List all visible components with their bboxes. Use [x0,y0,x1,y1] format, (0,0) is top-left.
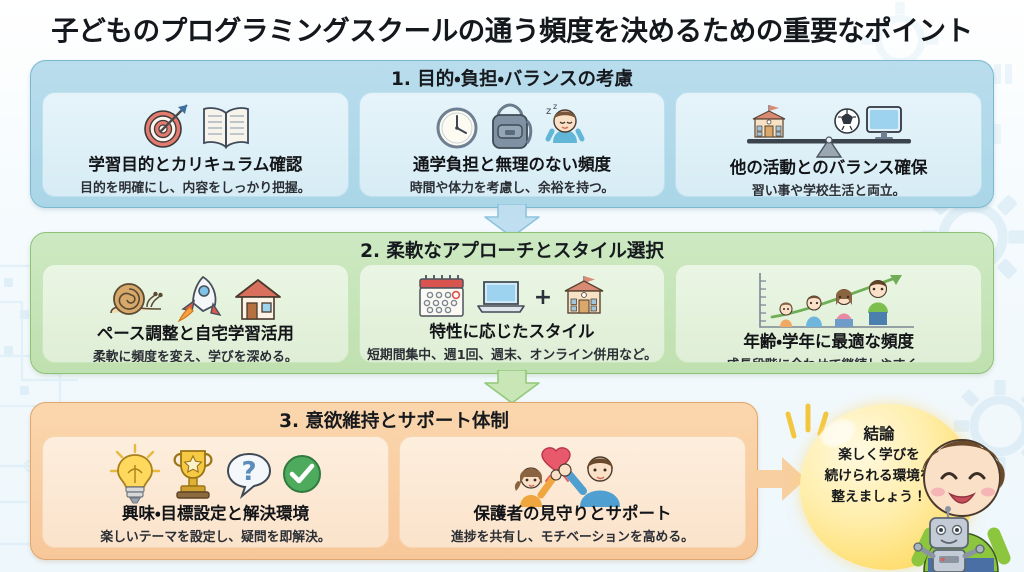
section-1-cards: 学習目的とカリキュラム確認 目的を明確にし、内容をしっかり把握。 [42,92,982,197]
svg-text:?: ? [241,457,256,487]
laptop-icon [474,274,528,320]
clock-icon [434,103,480,151]
school-building-icon [558,272,610,322]
school-building-icon [753,105,785,137]
tired-child-icon: z z [540,101,590,153]
card-subtitle: 成長段階に合わせて継続しやすく。 [726,354,931,363]
snail-icon [105,273,167,323]
open-book-icon [199,101,253,153]
svg-text:z: z [553,102,557,111]
card-title: 通学負担と無理のない頻度 [413,156,611,174]
rocket-icon [173,271,225,325]
growth-chart-icon [738,271,920,333]
svg-text:z: z [546,106,551,117]
card-title: 特性に応じたスタイル [430,323,595,341]
card-commute-burden[interactable]: z z 通学負担と無理のない頻度 時間や体力を考慮し、余裕を持つ。 [359,92,666,197]
section-heading-3: 3. 意欲維持とサポート体制 [31,408,757,432]
card-activity-balance[interactable]: 他の活動とのバランス確保 習い事や学校生活と両立。 [675,92,982,197]
section-2-cards: ペース調整と自宅学習活用 柔軟に頻度を変え、学びを深める。 [42,264,982,363]
balance-scale-icon [739,99,919,159]
card-icons: ? [108,443,324,505]
card-subtitle: 楽しいテーマを設定し、疑問を即解決。 [100,526,330,545]
card-learning-purpose[interactable]: 学習目的とカリキュラム確認 目的を明確にし、内容をしっかり把握。 [42,92,349,197]
section-panel-3: 3. 意欲維持とサポート体制 [30,402,758,560]
soccer-ball-icon [835,109,859,133]
card-style-by-traits[interactable]: + 特性に応じたスタイル 短期間集中、 [359,264,666,363]
card-title: 興味・目標設定と解決環境 [122,505,309,523]
card-subtitle: 柔軟に頻度を変え、学びを深める。 [93,346,298,363]
card-title: ペース調整と自宅学習活用 [97,325,294,343]
target-dart-icon [137,99,193,155]
card-icons [738,271,920,333]
backpack-icon [486,101,534,153]
card-subtitle: 短期間集中、週1回、週末、オンライン併用など。 [367,344,657,363]
lightbulb-icon [108,443,162,505]
card-icons: + [414,271,610,323]
page-title: 子どものプログラミングスクールの通う頻度を決めるための重要なポイント [0,6,1024,50]
card-subtitle: 習い事や学校生活と両立。 [752,180,906,197]
infographic-canvas: 子どものプログラミングスクールの通う頻度を決めるための重要なポイント 1. 目的… [0,0,1024,572]
card-icons [739,99,919,159]
card-pace-home-study[interactable]: ペース調整と自宅学習活用 柔軟に頻度を変え、学びを深める。 [42,264,349,363]
check-circle-icon [280,452,324,496]
trophy-icon [168,445,218,503]
card-icons [498,443,648,505]
card-subtitle: 時間や体力を考慮し、余裕を持つ。 [410,177,614,196]
section-panel-2: 2. 柔軟なアプローチとスタイル選択 [30,232,994,374]
card-age-optimal-frequency[interactable]: 年齢・学年に最適な頻度 成長段階に合わせて継続しやすく。 [675,264,982,363]
boy-with-robot-illustration [900,408,1024,572]
section-panel-1: 1. 目的・負担・バランスの考慮 [30,60,994,208]
card-icons [105,271,285,325]
card-title: 学習目的とカリキュラム確認 [88,156,302,174]
card-title: 年齢・学年に最適な頻度 [743,333,914,351]
card-icons [137,99,253,156]
card-parent-support[interactable]: 保護者の見守りとサポート 進捗を共有し、モチベーションを高める。 [399,436,746,548]
card-subtitle: 進捗を共有し、モチベーションを高める。 [451,526,694,545]
card-title: 他の活動とのバランス確保 [730,159,928,177]
calendar-icon [414,271,468,323]
section-heading-1: 1. 目的・負担・バランスの考慮 [31,66,993,90]
high-five-parent-child-icon [498,439,648,509]
section-3-cards: ? 興味・目標設定と解決環境 楽しいテーマを設定し、疑問を即解決。 [42,436,746,548]
card-icons: z z [434,99,590,156]
card-motivation-goals[interactable]: ? 興味・目標設定と解決環境 楽しいテーマを設定し、疑問を即解決。 [42,436,389,548]
flow-arrow-down-green [483,370,541,404]
card-title: 保護者の見守りとサポート [474,505,672,523]
section-heading-2: 2. 柔軟なアプローチとスタイル選択 [31,238,993,262]
house-icon [231,273,285,323]
children-growing-icon [780,281,888,328]
plus-sign: + [534,285,552,310]
card-subtitle: 目的を明確にし、内容をしっかり把握。 [80,177,310,196]
question-bubble-icon: ? [224,449,274,499]
monitor-icon [867,107,901,140]
